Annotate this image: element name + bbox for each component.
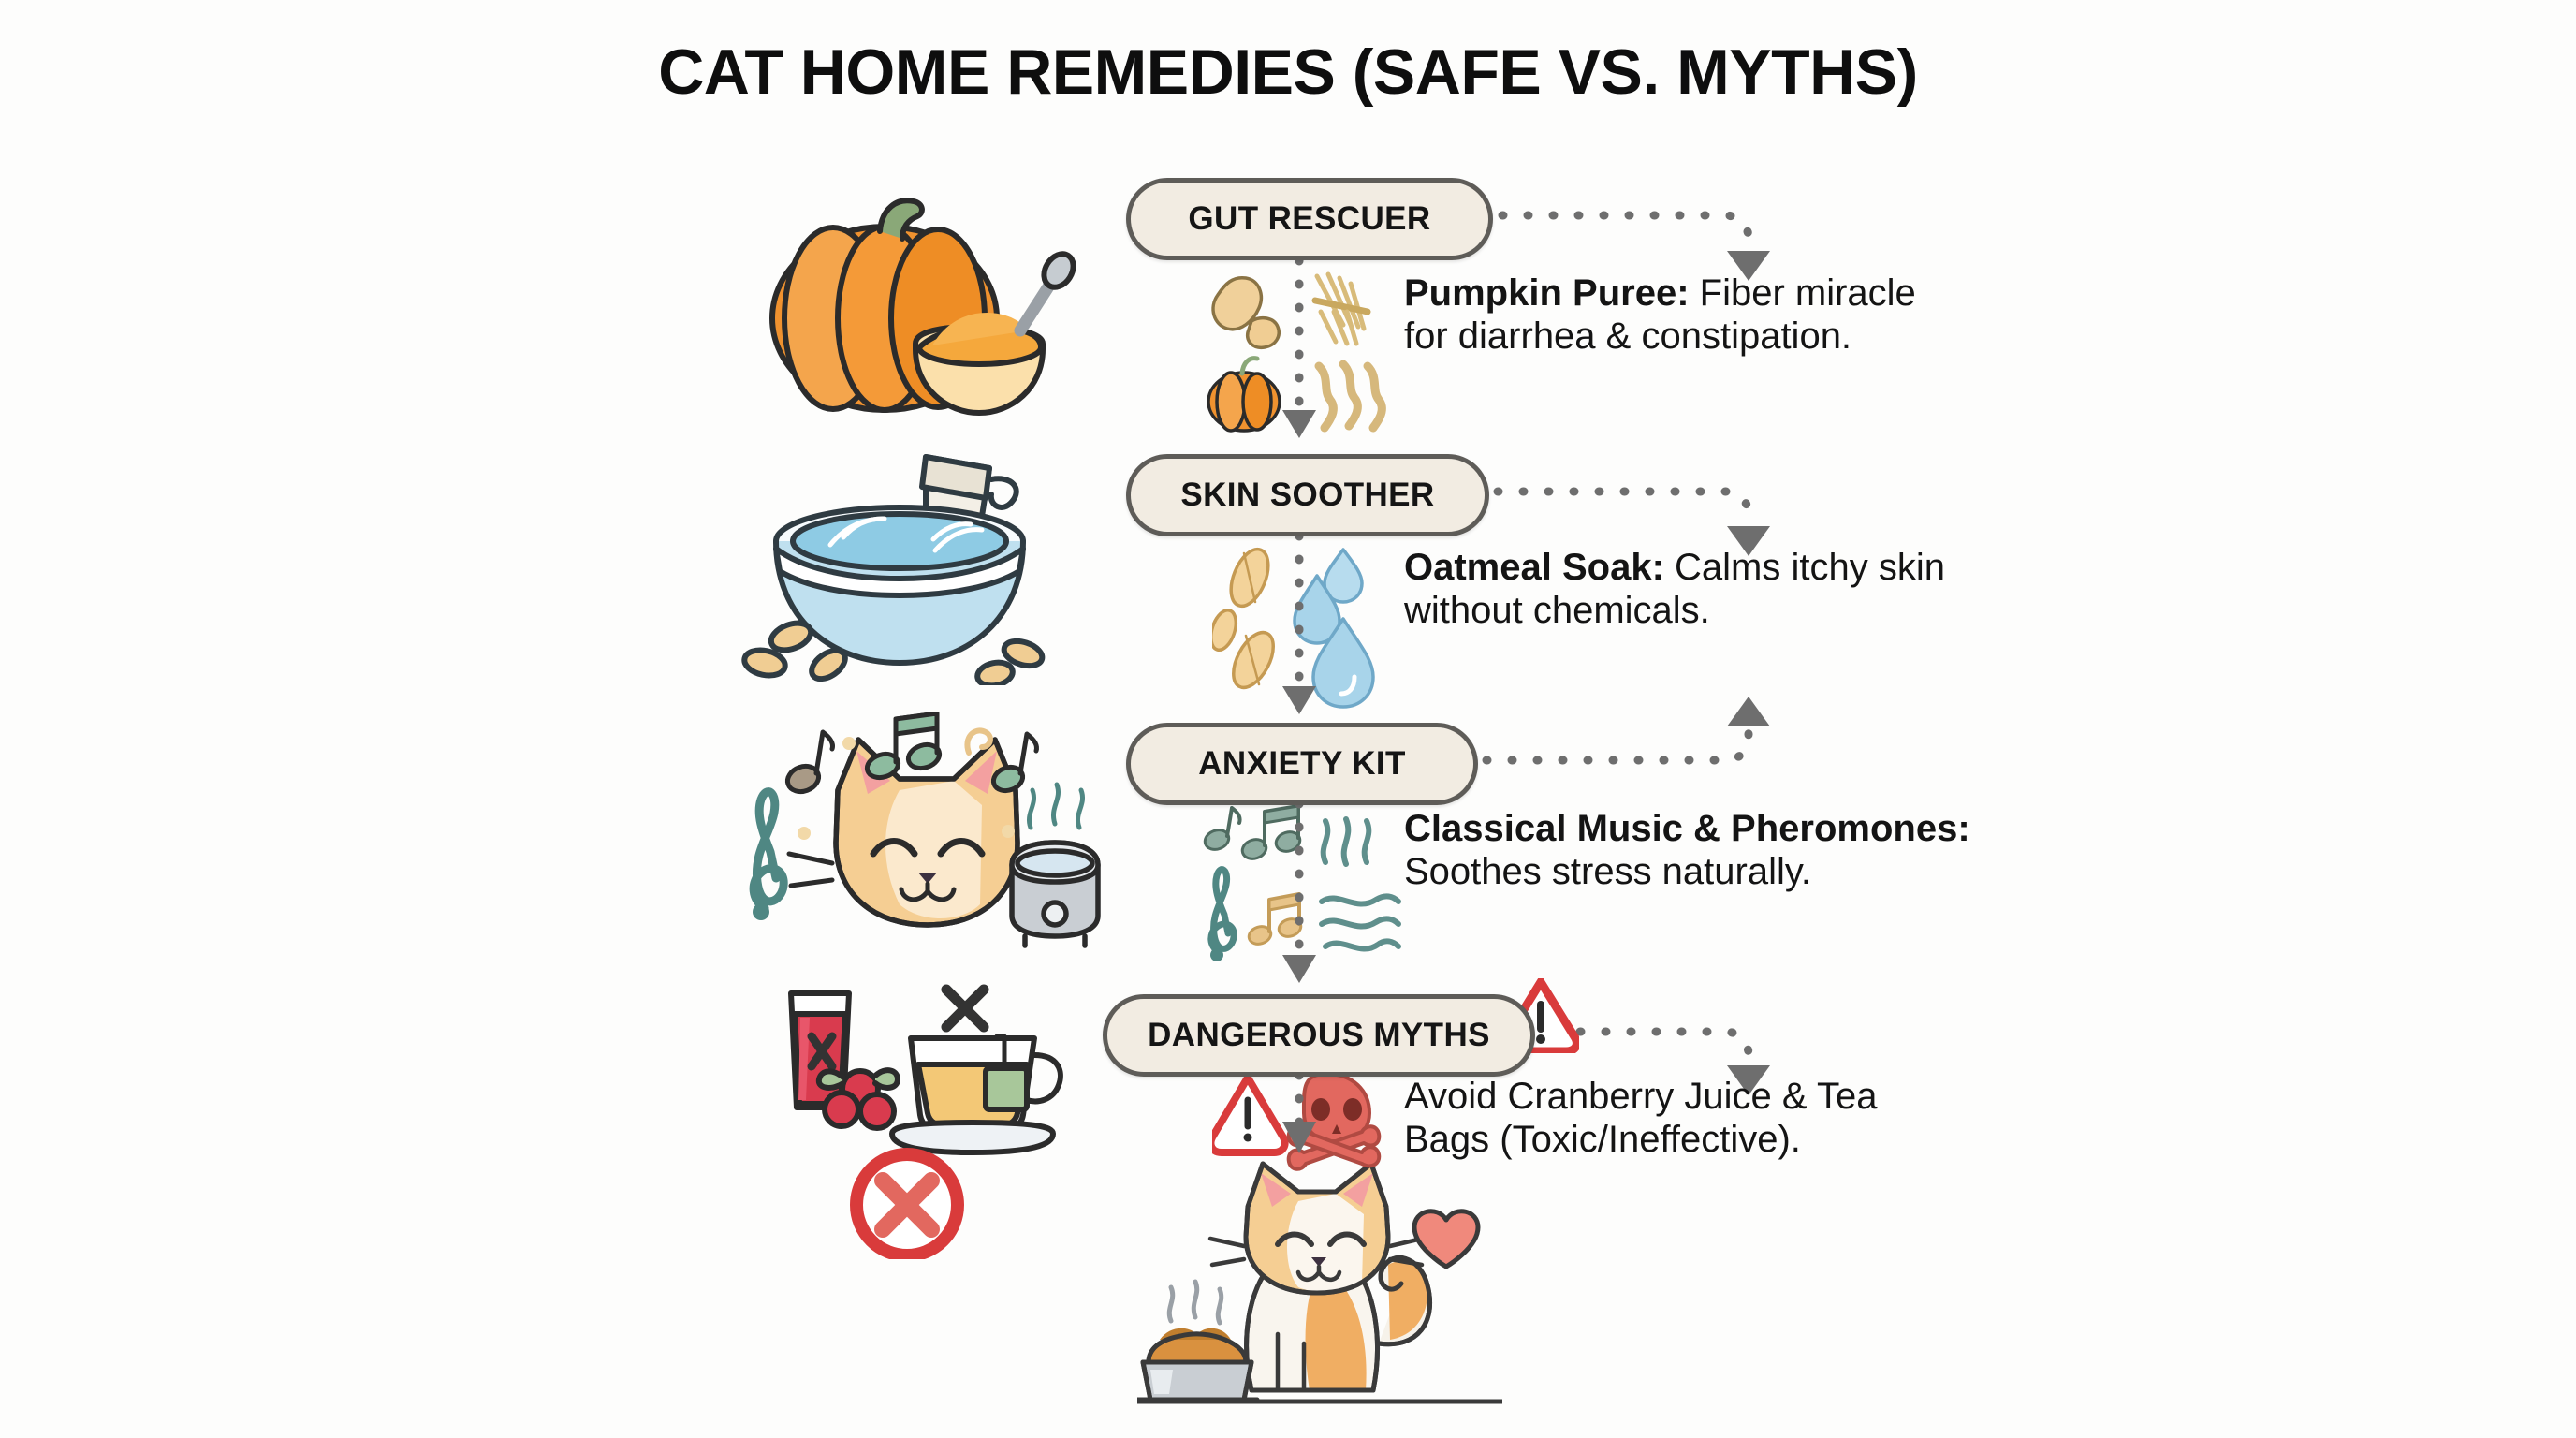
description-body: Avoid Cranberry Juice & Tea Bags (Toxic/… <box>1404 1076 1877 1160</box>
illustration-cranberry-juice-and-tea-cup-with-x-marks <box>763 978 1081 1259</box>
illustration-sock-in-water-bowl-with-oats <box>725 440 1081 685</box>
flow-node-gut-rescuer[interactable]: GUT RESCUER <box>1126 178 1493 260</box>
page-title: CAT HOME REMEDIES (SAFE VS. MYTHS) <box>0 36 2576 109</box>
warning-triangle-icon <box>1212 1078 1285 1152</box>
fiber-strands-icon <box>1319 364 1382 428</box>
description-anxiety-kit: Classical Music & Pheromones: Soothes st… <box>1404 807 1994 894</box>
bread-icon <box>1248 318 1280 348</box>
description-skin-soother: Oatmeal Soak: Calms itchy skin without c… <box>1404 546 1947 633</box>
music-note-icon <box>1202 806 1302 862</box>
music-note-icon-gold <box>1247 894 1303 946</box>
pumpkin-icon <box>1208 359 1280 431</box>
description-body: Soothes stress naturally. <box>1404 851 1811 892</box>
wheat-bundle-icon <box>1315 274 1368 344</box>
water-droplet-icon <box>1295 550 1373 707</box>
inline-icons-gut-rescuer <box>1203 267 1418 440</box>
scent-wave-icon <box>1322 819 1398 949</box>
illustration-happy-cat-with-food-bowl-and-heart <box>1137 1147 1502 1428</box>
illustration-pumpkin-and-puree-bowl <box>739 164 1095 426</box>
description-dangerous-myths: Avoid Cranberry Juice & Tea Bags (Toxic/… <box>1404 1075 1947 1162</box>
illustration-happy-cat-with-music-notes-and-diffuser <box>716 712 1109 966</box>
flow-node-label: DANGEROUS MYTHS <box>1148 1017 1490 1054</box>
inline-icons-anxiety-kit <box>1198 800 1413 969</box>
description-gut-rescuer: Pumpkin Puree: Fiber miracle for diarrhe… <box>1404 271 1966 359</box>
oat-grain-icon <box>1212 544 1281 694</box>
inline-icons-skin-soother <box>1212 538 1409 712</box>
skull-crossbones-icon <box>1289 1074 1380 1169</box>
flow-node-label: ANXIETY KIT <box>1198 745 1406 783</box>
inline-icons-dangerous-myths <box>1212 1072 1399 1175</box>
flow-node-dangerous-myths[interactable]: DANGEROUS MYTHS <box>1103 994 1535 1077</box>
description-term: Oatmeal Soak: <box>1404 547 1664 588</box>
description-term: Pumpkin Puree: <box>1404 272 1690 314</box>
treble-clef-icon <box>1210 870 1234 961</box>
flow-node-anxiety-kit[interactable]: ANXIETY KIT <box>1126 723 1478 805</box>
description-term: Classical Music & Pheromones: <box>1404 808 1970 849</box>
flow-node-label: GUT RESCUER <box>1188 200 1430 238</box>
flow-node-label: SKIN SOOTHER <box>1180 477 1434 514</box>
flow-node-skin-soother[interactable]: SKIN SOOTHER <box>1126 454 1489 536</box>
